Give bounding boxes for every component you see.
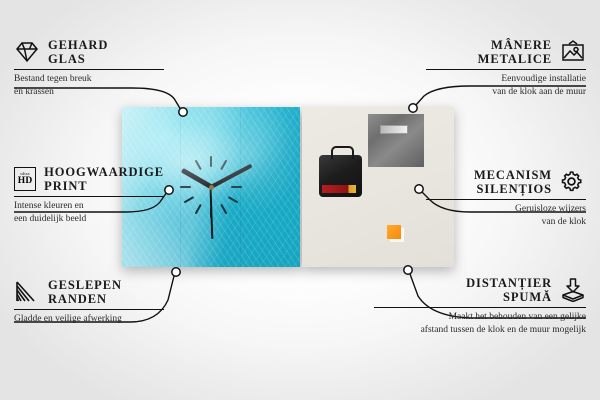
- divider: [426, 69, 586, 70]
- feature-desc: Geruisloze wijzers: [426, 203, 586, 216]
- feature-hoogwaardige-print: ultra HD HOOGWAARDIGE PRINT Intense kleu…: [14, 165, 164, 225]
- feature-title: SILENȚIOS: [474, 182, 552, 196]
- feature-desc: Maakt het behouden van een gelijke: [374, 311, 586, 324]
- feature-title: MÂNERE: [478, 38, 552, 52]
- feature-desc: van de klok aan de muur: [426, 86, 586, 99]
- feature-title: GLAS: [48, 52, 108, 66]
- feature-gehard-glas: GEHARD GLAS Bestand tegen breuk en krass…: [14, 38, 164, 98]
- callout-dot: [172, 268, 180, 276]
- feature-desc: en krassen: [14, 86, 164, 99]
- feature-desc: Bestand tegen breuk: [14, 73, 164, 86]
- ultra-hd-big: HD: [18, 177, 33, 187]
- divider: [14, 196, 164, 197]
- metal-hanger-icon: [331, 146, 354, 159]
- picture-frame-icon: [560, 40, 586, 64]
- feature-title: PRINT: [44, 179, 164, 193]
- feature-manere-metalice: MÂNERE METALICE Eenvoudige installatie v…: [426, 38, 586, 98]
- feature-title: MECANISM: [474, 168, 552, 182]
- clock-movement: [319, 155, 362, 197]
- feature-desc: Gladde en veilige afwerking: [14, 313, 164, 326]
- feature-title: METALICE: [478, 52, 552, 66]
- feature-geslepen-randen: GESLEPEN RANDEN Gladde en veilige afwerk…: [14, 278, 164, 326]
- callout-dot: [404, 266, 412, 274]
- feature-desc: afstand tussen de klok en de muur mogeli…: [374, 324, 586, 337]
- feature-desc: van de klok: [426, 216, 586, 229]
- feature-title: HOOGWAARDIGE: [44, 165, 164, 179]
- product-image: [122, 107, 454, 267]
- divider: [14, 309, 164, 310]
- battery: [322, 185, 356, 193]
- feature-title: DISTANȚIER: [374, 276, 552, 290]
- infographic-canvas: GEHARD GLAS Bestand tegen breuk en krass…: [0, 0, 600, 400]
- clock-center-pin: [209, 185, 214, 190]
- divider: [14, 69, 164, 70]
- feature-mecanism-silentios: MECANISM SILENȚIOS Geruisloze wijzers va…: [426, 168, 586, 228]
- feature-desc: Eenvoudige installatie: [426, 73, 586, 86]
- bevelled-edge-icon: [14, 280, 40, 304]
- feature-title: GEHARD: [48, 38, 108, 52]
- feature-title: RANDEN: [48, 292, 122, 306]
- foam-spacer: [387, 225, 401, 239]
- ultra-hd-icon: ultra HD: [14, 167, 36, 191]
- hanger-plate: [368, 114, 424, 167]
- feature-distantier-spuma: DISTANȚIER SPUMĂ Maakt het behouden van …: [374, 276, 586, 336]
- gear-icon: [560, 170, 586, 194]
- feature-desc: Intense kleuren en: [14, 200, 164, 213]
- feature-desc: een duidelijk beeld: [14, 213, 164, 226]
- feature-title: GESLEPEN: [48, 278, 122, 292]
- divider: [426, 199, 586, 200]
- feature-title: SPUMĂ: [374, 290, 552, 304]
- press-down-icon: [560, 278, 586, 302]
- diamond-icon: [14, 40, 40, 64]
- divider: [374, 307, 586, 308]
